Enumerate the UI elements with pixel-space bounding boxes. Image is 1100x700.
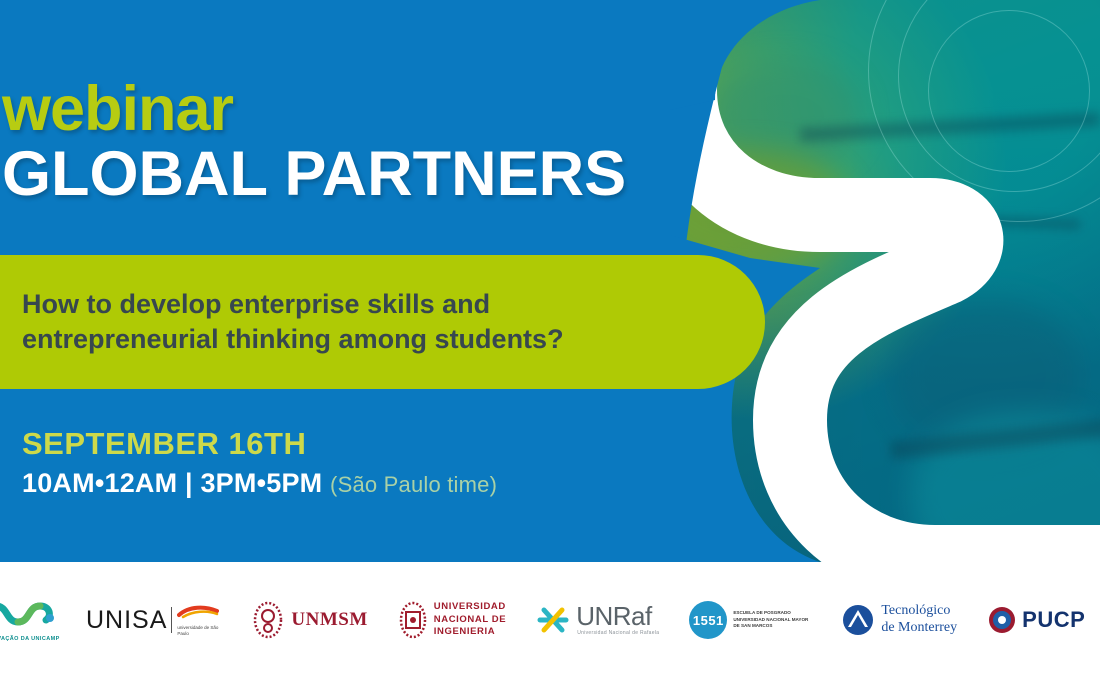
logo-pucp: PUCP <box>987 605 1085 635</box>
event-time-line: 10AM•12AM | 3PM•5PM (São Paulo time) <box>22 467 497 499</box>
uni-line-1: UNIVERSIDAD <box>434 601 506 612</box>
uni-crest-icon <box>398 600 428 640</box>
tec-line-2: de Monterrey <box>881 620 957 635</box>
unmsm-crest-icon <box>251 600 285 640</box>
question-pill: How to develop enterprise skills and ent… <box>0 255 765 389</box>
logo-unmsm: UNMSM <box>251 600 367 640</box>
pucp-crest-icon <box>987 605 1017 635</box>
page-title: GLOBAL PARTNERS <box>2 143 626 206</box>
webinar-banner: webinar GLOBAL PARTNERS How to develop e… <box>0 0 1100 700</box>
tec-line-1: Tecnológico <box>881 603 950 618</box>
uni-line-3: INGENIERIA <box>434 626 495 637</box>
logo-unraf: UNRaf Universidad Nacional de Rafaela <box>536 603 659 637</box>
tec-monterrey-icon <box>841 603 875 637</box>
tec-monterrey-wordmark: Tecnológico de Monterrey <box>881 603 957 636</box>
uni-wordmark: UNIVERSIDAD NACIONAL DE INGENIERIA <box>434 601 506 638</box>
question-text: How to develop enterprise skills and ent… <box>22 287 682 356</box>
inova-unicamp-mark <box>0 598 60 630</box>
uni-line-2: NACIONAL DE <box>434 614 506 625</box>
date-block: SEPTEMBER 16TH 10AM•12AM | 3PM•5PM (São … <box>22 428 497 499</box>
title-block: webinar GLOBAL PARTNERS <box>0 78 626 206</box>
hero-panel: webinar GLOBAL PARTNERS How to develop e… <box>0 0 1100 562</box>
logo-row: INOVAÇÃO DA UNICAMP UNISA universidade d… <box>0 584 1100 656</box>
unisa-wordmark: UNISA <box>86 606 167 635</box>
partner-logo-strip: INOVAÇÃO DA UNICAMP UNISA universidade d… <box>0 562 1100 700</box>
unisa-swoosh-icon <box>177 604 219 620</box>
unraf-caption: Universidad Nacional de Rafaela <box>577 630 659 636</box>
unraf-wordmark: UNRaf <box>576 601 652 631</box>
inova-unicamp-caption: INOVAÇÃO DA UNICAMP <box>0 636 60 642</box>
unisa-caption: universidade de São Paulo <box>177 625 219 636</box>
pucp-wordmark: PUCP <box>1022 607 1085 633</box>
unraf-asterisk-icon <box>536 603 570 637</box>
logo-1551: 1551 ESCUELA DE POSGRADO UNIVERSIDAD NAC… <box>689 601 813 639</box>
webinar-label: webinar <box>2 78 626 141</box>
event-timezone: (São Paulo time) <box>330 472 497 497</box>
unisa-divider <box>171 607 172 633</box>
logo-uni: UNIVERSIDAD NACIONAL DE INGENIERIA <box>398 600 506 640</box>
logo-1551-badge: 1551 <box>689 601 727 639</box>
event-times: 10AM•12AM | 3PM•5PM <box>22 468 322 498</box>
event-date: SEPTEMBER 16TH <box>22 428 497 461</box>
logo-tec-monterrey: Tecnológico de Monterrey <box>841 603 957 637</box>
logo-unisa: UNISA universidade de São Paulo <box>86 604 219 636</box>
logo-1551-caption: ESCUELA DE POSGRADO UNIVERSIDAD NACIONAL… <box>733 610 813 631</box>
logo-inova-unicamp: INOVAÇÃO DA UNICAMP <box>0 598 60 642</box>
unmsm-wordmark: UNMSM <box>291 609 367 631</box>
